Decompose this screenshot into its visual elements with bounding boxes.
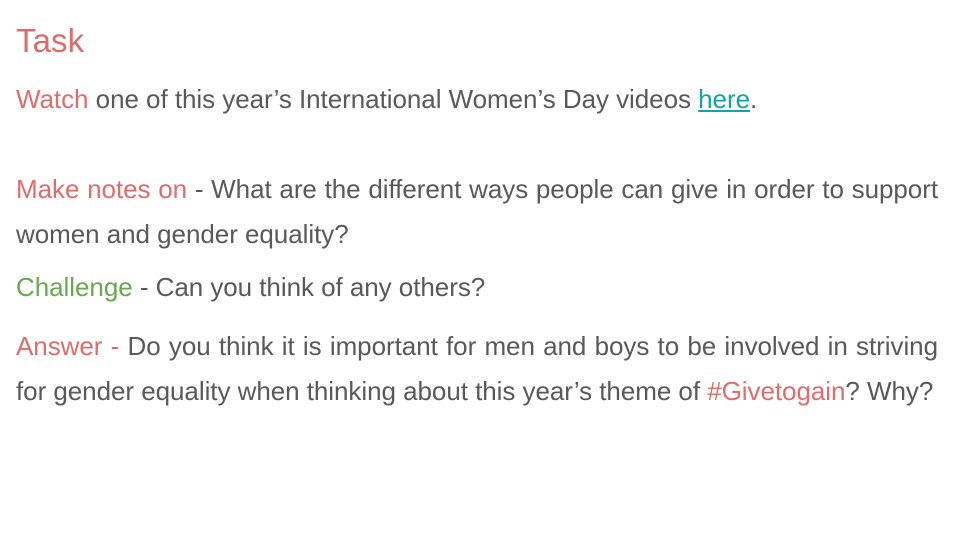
paragraph-challenge: Challenge - Can you think of any others? — [16, 265, 938, 310]
video-link-here[interactable]: here — [698, 84, 750, 114]
slide-root: Task Watch one of this year’s Internatio… — [0, 0, 960, 540]
watch-text-before-link: one of this year’s International Women’s… — [88, 84, 698, 114]
paragraph-make-notes: Make notes on - What are the different w… — [16, 167, 938, 257]
paragraph-spacer — [16, 122, 938, 167]
keyword-answer: Answer - — [16, 331, 119, 361]
answer-body-after-hashtag: ? Why? — [845, 376, 933, 406]
gap-after-make-notes — [16, 257, 938, 265]
watch-text-after-link: . — [750, 84, 757, 114]
page-title: Task — [16, 18, 938, 64]
slide-content: Task Watch one of this year’s Internatio… — [16, 18, 938, 414]
keyword-watch: Watch — [16, 84, 88, 114]
gap-after-challenge — [16, 310, 938, 324]
keyword-make-notes-on: Make notes on — [16, 174, 187, 204]
hashtag-givetogain: #Givetogain — [707, 376, 845, 406]
keyword-challenge: Challenge — [16, 272, 133, 302]
paragraph-watch: Watch one of this year’s International W… — [16, 77, 938, 122]
paragraph-answer: Answer - Do you think it is important fo… — [16, 324, 938, 414]
challenge-body: - Can you think of any others? — [133, 272, 486, 302]
